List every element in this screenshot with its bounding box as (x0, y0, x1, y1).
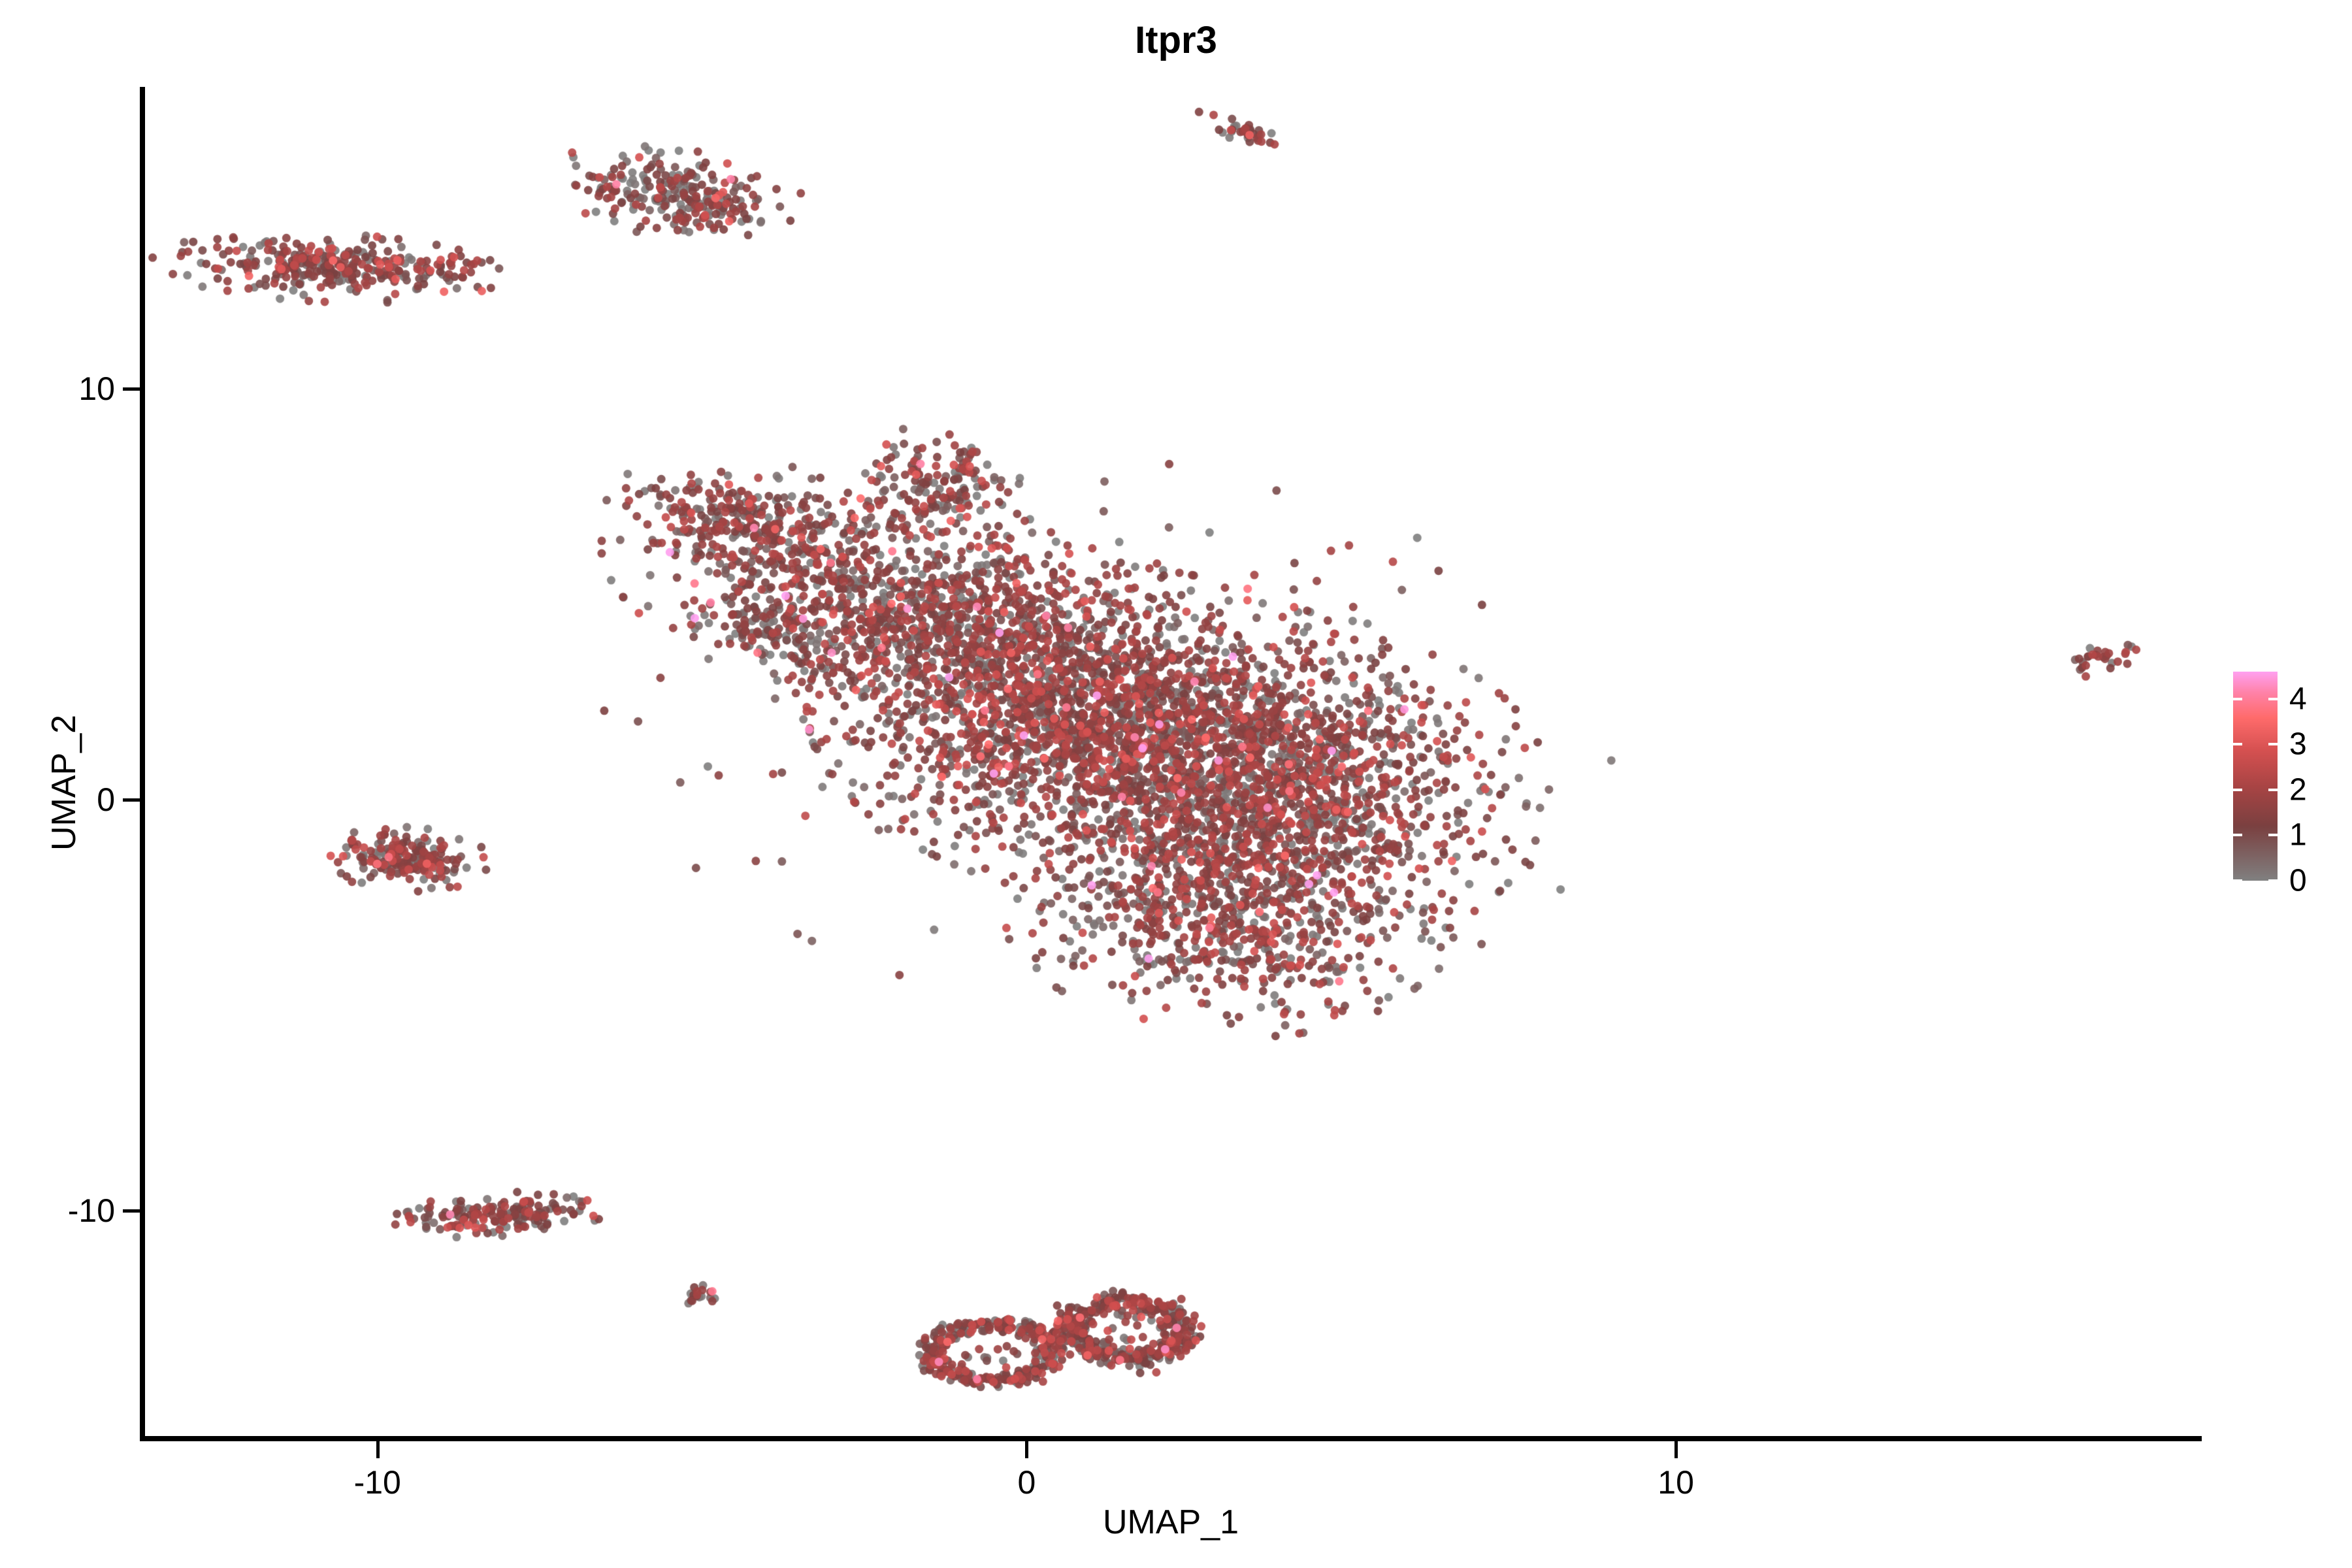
colorbar-tick-mark (2268, 698, 2278, 700)
colorbar-tick-mark (2268, 879, 2278, 882)
colorbar-tick-mark (2233, 698, 2242, 700)
x-tick-label: -10 (354, 1463, 401, 1501)
y-tick-label: -10 (68, 1192, 115, 1230)
colorbar-tick-label: 1 (2289, 817, 2307, 853)
plot-panel (144, 85, 2202, 1441)
colorbar-tick-mark (2233, 879, 2242, 882)
umap-feature-plot: Itpr3 -10010 -10010 UMAP_1 UMAP_2 01234 (0, 0, 2352, 1568)
x-axis-title: UMAP_1 (140, 1503, 2202, 1542)
x-tick-label: 0 (1018, 1463, 1036, 1501)
colorbar-tick-mark (2268, 789, 2278, 791)
page-title: Itpr3 (0, 18, 2352, 62)
colorbar-tick-label: 4 (2289, 681, 2307, 717)
colorbar-tick-label: 2 (2289, 772, 2307, 808)
x-axis-line (140, 1436, 2202, 1441)
scatter-points-layer (144, 85, 2202, 1441)
colorbar-tick-mark (2268, 743, 2278, 745)
y-tick-mark (123, 798, 140, 802)
x-tick-label: 10 (1658, 1463, 1694, 1501)
x-tick-mark (1674, 1441, 1678, 1458)
colorbar-tick-mark (2233, 743, 2242, 745)
colorbar-legend: 01234 (2233, 666, 2344, 889)
y-tick-mark (123, 387, 140, 391)
x-tick-mark (376, 1441, 380, 1458)
colorbar-tick-label: 3 (2289, 727, 2307, 762)
colorbar-tick-label: 0 (2289, 863, 2307, 899)
y-axis-title: UMAP_2 (44, 678, 84, 887)
colorbar-tick-mark (2268, 834, 2278, 836)
y-tick-label: 0 (97, 781, 115, 819)
colorbar-tick-mark (2233, 834, 2242, 836)
y-tick-mark (123, 1209, 140, 1213)
y-tick-label: 10 (78, 370, 115, 408)
colorbar-tick-mark (2233, 789, 2242, 791)
x-tick-mark (1025, 1441, 1028, 1458)
colorbar-gradient (2233, 672, 2278, 881)
y-axis-line (140, 87, 145, 1441)
